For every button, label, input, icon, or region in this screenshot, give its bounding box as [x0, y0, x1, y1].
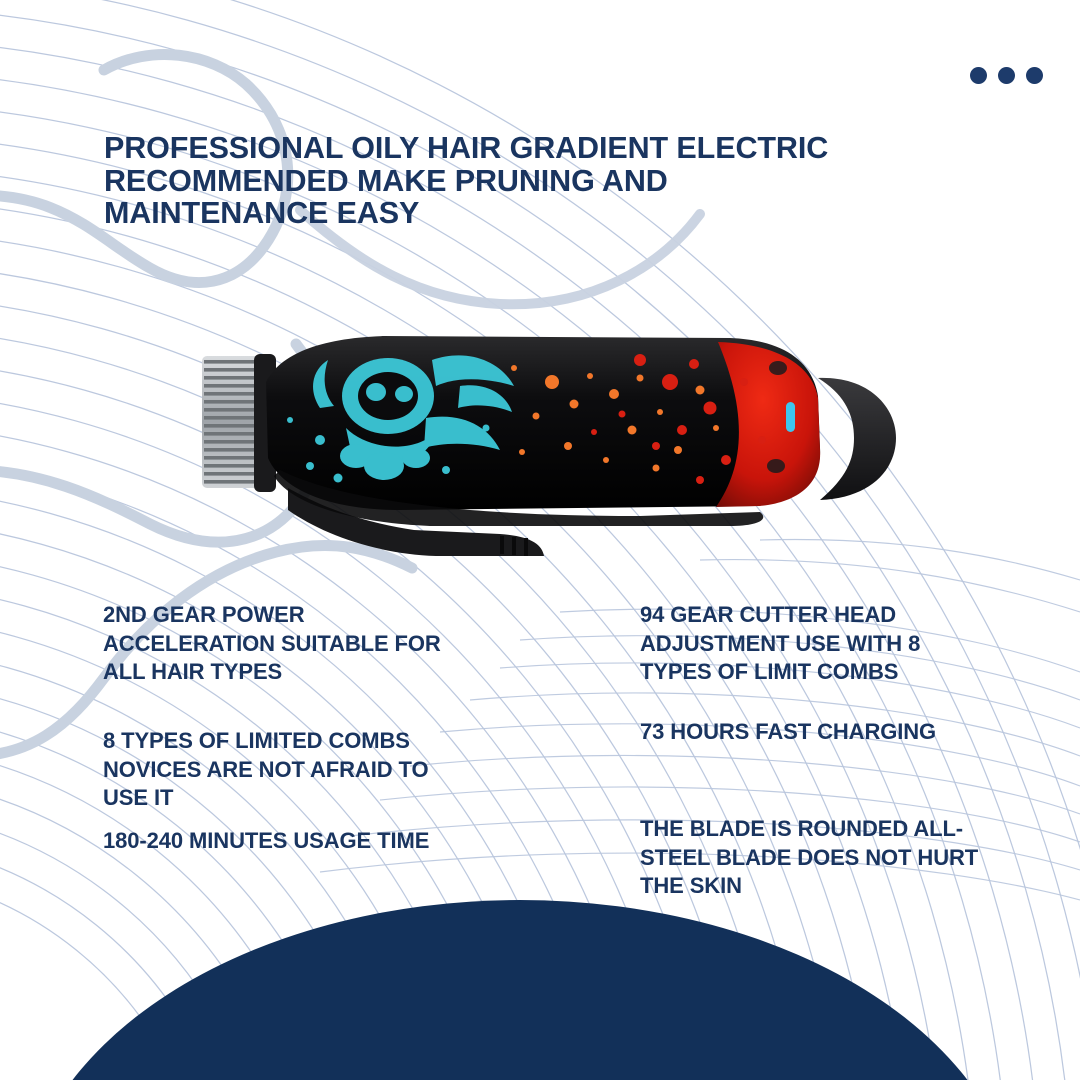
feature-right-1: 94 GEAR CUTTER HEAD ADJUSTMENT USE WITH …	[640, 601, 1060, 687]
feature-list: 2ND GEAR POWER ACCELERATION SUITABLE FOR…	[0, 0, 1080, 1080]
feature-left-1: 2ND GEAR POWER ACCELERATION SUITABLE FOR…	[103, 601, 523, 687]
product-promo-poster: PROFESSIONAL OILY HAIR GRADIENT ELECTRIC…	[0, 0, 1080, 1080]
feature-right-3: THE BLADE IS ROUNDED ALL- STEEL BLADE DO…	[640, 815, 1060, 901]
feature-left-2: 8 TYPES OF LIMITED COMBS NOVICES ARE NOT…	[103, 727, 523, 813]
feature-left-3: 180-240 MINUTES USAGE TIME	[103, 827, 523, 856]
feature-right-2: 73 HOURS FAST CHARGING	[640, 718, 1060, 747]
